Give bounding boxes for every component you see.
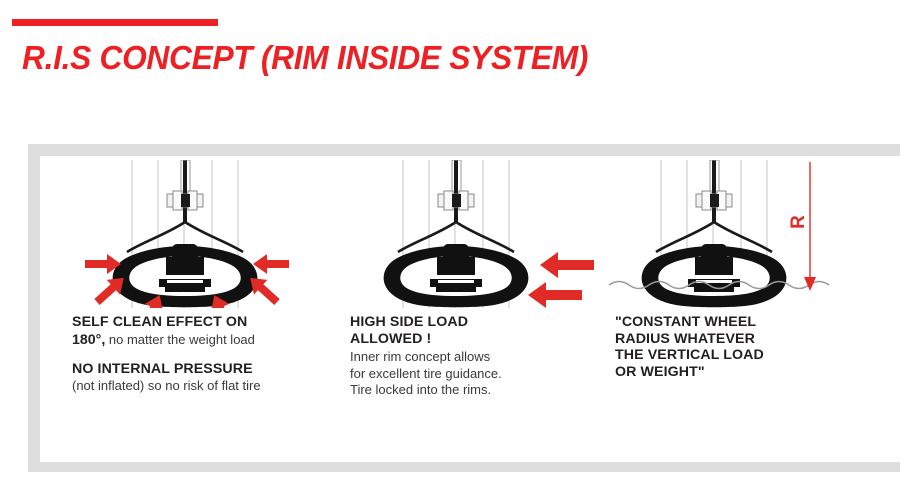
hex-nut-fixture <box>438 191 474 210</box>
hex-nut-fixture <box>696 191 732 210</box>
heading-high-side-load-line1: HIGH SIDE LOAD <box>350 314 600 331</box>
text-block-constant-radius: "CONSTANT WHEEL RADIUS WHATEVER THE VERT… <box>615 314 880 380</box>
wheel-cross-section-side-arrows-icon <box>340 160 605 308</box>
page-title: R.I.S CONCEPT (RIM INSIDE SYSTEM) <box>22 38 588 78</box>
paragraph-self-clean: SELF CLEAN EFFECT ON 180°, no matter the… <box>72 314 334 348</box>
text-block-high-side-load: HIGH SIDE LOAD ALLOWED ! Inner rim conce… <box>350 314 600 399</box>
heading-self-clean: SELF CLEAN EFFECT ON <box>72 314 334 331</box>
suspension-rod <box>454 160 458 222</box>
side-arrow-lower <box>528 282 582 308</box>
body-line-2: for excellent tire guidance. <box>350 366 600 383</box>
title-accent-rule <box>12 19 218 26</box>
paragraph-spacer <box>72 348 334 361</box>
body-self-clean-rest: no matter the weight load <box>105 332 255 347</box>
paragraph-no-pressure: NO INTERNAL PRESSURE (not inflated) so n… <box>72 361 334 394</box>
illustration-wheel-radius-dimension: R <box>605 160 885 308</box>
body-high-side-load: Inner rim concept allows for excellent t… <box>350 349 600 399</box>
heading-line-3: THE VERTICAL LOAD <box>615 347 880 364</box>
illustration-wheel-radial-arrows <box>55 160 340 308</box>
heading-line-1: "CONSTANT WHEEL <box>615 314 880 331</box>
suspension-rod <box>712 160 716 222</box>
rim-slot <box>167 280 203 283</box>
heading-no-internal-pressure: NO INTERNAL PRESSURE <box>72 361 334 378</box>
body-line-1: Inner rim concept allows <box>350 349 600 366</box>
side-arrow-upper <box>540 252 594 278</box>
body-no-internal-pressure: (not inflated) so no risk of flat tire <box>72 378 334 395</box>
body-line-3: Tire locked into the rims. <box>350 382 600 399</box>
illustration-wheel-side-arrows <box>340 160 605 308</box>
side-load-arrows <box>528 252 594 308</box>
body-self-clean: 180°, no matter the weight load <box>72 332 334 349</box>
heading-high-side-load-line2: ALLOWED ! <box>350 331 600 348</box>
heading-constant-radius: "CONSTANT WHEEL RADIUS WHATEVER THE VERT… <box>615 314 880 380</box>
suspension-rod <box>183 160 187 222</box>
column-self-clean: SELF CLEAN EFFECT ON 180°, no matter the… <box>55 156 340 462</box>
lead-180-degrees: 180°, <box>72 332 105 348</box>
rim-slot <box>438 280 474 283</box>
text-block-self-clean: SELF CLEAN EFFECT ON 180°, no matter the… <box>72 314 334 394</box>
radius-label: R <box>788 215 809 229</box>
radius-arrowhead <box>804 277 816 291</box>
heading-line-4: OR WEIGHT" <box>615 364 880 381</box>
wheel-cross-section-radius-dimension-icon: R <box>605 160 885 308</box>
hex-nut-fixture <box>167 191 203 210</box>
column-high-side-load: HIGH SIDE LOAD ALLOWED ! Inner rim conce… <box>340 156 605 462</box>
column-constant-radius: R "CONSTANT WHEEL RADIUS WHATEVER THE VE… <box>605 156 885 462</box>
wheel-cross-section-radial-arrows-icon <box>55 160 340 308</box>
heading-line-2: RADIUS WHATEVER <box>615 331 880 348</box>
radius-dimension: R <box>788 162 816 291</box>
